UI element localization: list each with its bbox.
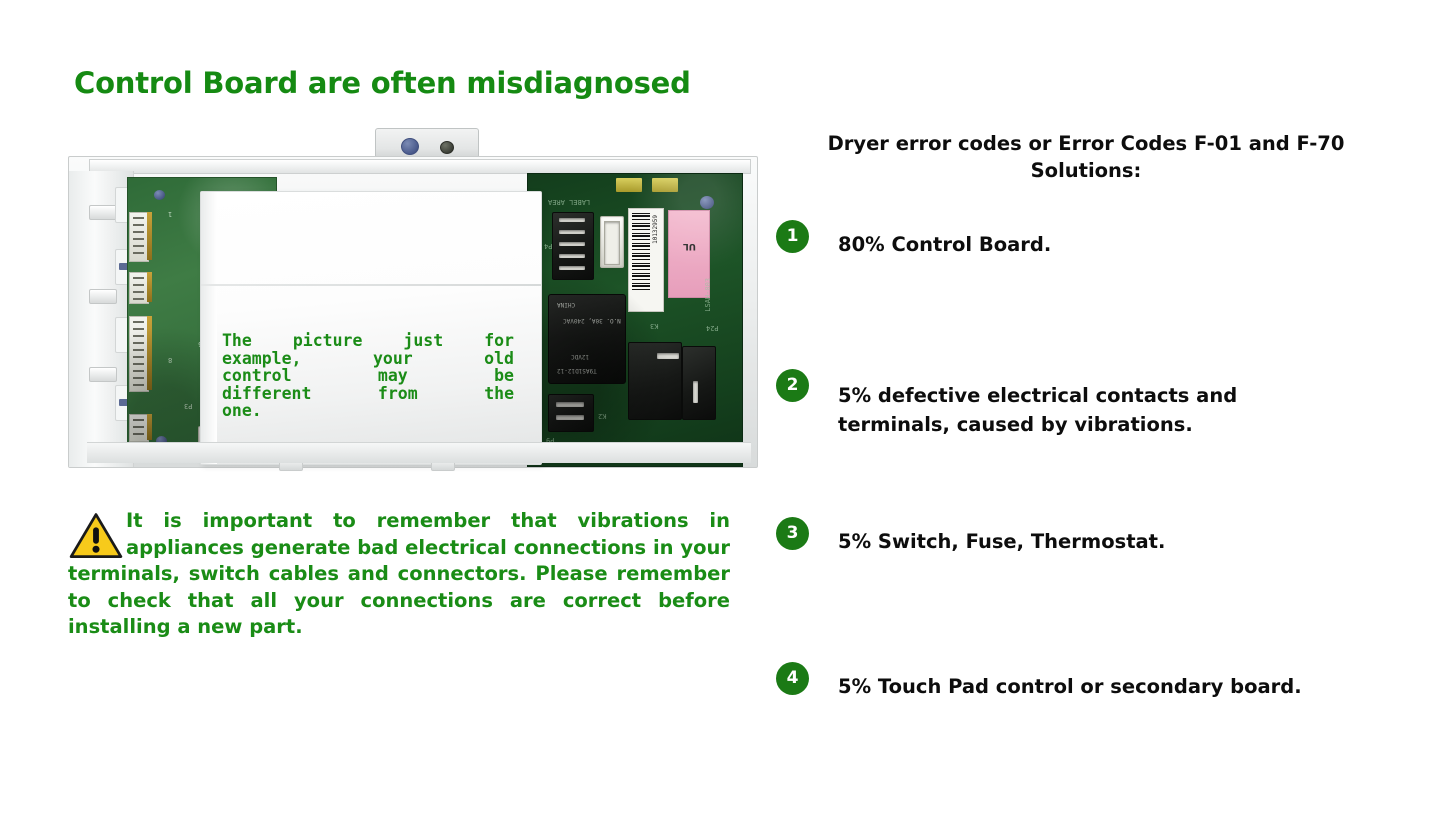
solution-badge-2: 2	[776, 369, 809, 402]
solution-item-3[interactable]: 3 5% Switch, Fuse, Thermostat.	[776, 519, 1396, 556]
black-connector-k2	[548, 394, 594, 432]
pin-header	[129, 316, 149, 392]
barcode-icon	[632, 213, 650, 291]
pcb-pad	[154, 190, 165, 200]
solution-text-3: 5% Switch, Fuse, Thermostat.	[838, 527, 1165, 556]
housing-clip	[89, 205, 117, 220]
warning-block: It is important to remember that vibrati…	[68, 508, 730, 641]
silk-k3: K3	[650, 322, 658, 330]
solution-text-2: 5% defective electrical contacts and ter…	[838, 381, 1308, 439]
ribbon-socket	[600, 216, 624, 268]
silk-k2: K2	[598, 412, 606, 420]
black-connector-p4	[552, 212, 594, 280]
pcb-yellow-pad	[652, 178, 678, 192]
solutions-panel: Dryer error codes or Error Codes F-01 an…	[776, 130, 1396, 701]
image-overlay-note: The picture just for example, your old c…	[222, 332, 514, 420]
chassis-body: 1 3 P14 P2 P5 8 Whirlpool Corp. P3 P13 L…	[68, 156, 758, 468]
pin-header	[129, 272, 149, 304]
barcode-label: 10132959	[628, 208, 664, 312]
housing-clip	[89, 289, 117, 304]
right-pcb: LABEL AREA P4 10132959	[527, 173, 743, 467]
chassis-rail-bottom	[87, 442, 751, 463]
overlay-line-1: The picture just for	[222, 332, 514, 350]
pcb-trace	[147, 316, 152, 390]
board-chassis: 1 3 P14 P2 P5 8 Whirlpool Corp. P3 P13 L…	[62, 150, 762, 476]
solution-badge-3: 3	[776, 517, 809, 550]
pcb-trace	[147, 414, 152, 440]
solution-item-2[interactable]: 2 5% defective electrical contacts and t…	[776, 371, 1396, 439]
chassis-rail-top	[89, 159, 751, 174]
solutions-heading: Dryer error codes or Error Codes F-01 an…	[806, 130, 1366, 184]
warning-text: It is important to remember that vibrati…	[68, 508, 730, 641]
overlay-line-4: different from the	[222, 385, 514, 403]
warning-triangle-icon	[68, 512, 124, 560]
barcode-number: 10132959	[652, 215, 659, 244]
relay-component: CHINA N.O. 30A, 240VAC 12VDC T9AS1D12-12	[548, 294, 626, 384]
silk-pin-8: 8	[168, 356, 172, 364]
pcb-trace	[147, 212, 152, 260]
cover-fold	[201, 284, 541, 286]
relay-model: T9AS1D12-12	[557, 367, 597, 374]
left-housing	[69, 171, 134, 467]
solutions-list: 1 80% Control Board. 2 5% defective elec…	[776, 222, 1396, 701]
ul-mark-icon: UL	[683, 241, 696, 251]
board-cover	[200, 191, 542, 465]
silk-label-area: LABEL AREA	[548, 198, 590, 206]
black-connector-main	[628, 342, 682, 420]
silk-p4: P4	[544, 242, 552, 250]
black-connector-side	[682, 346, 716, 420]
relay-origin: CHINA	[557, 301, 575, 308]
pcb-yellow-pad	[616, 178, 642, 192]
solution-item-4[interactable]: 4 5% Touch Pad control or secondary boar…	[776, 664, 1396, 701]
relay-coil: 12VDC	[571, 353, 589, 360]
housing-clip	[89, 367, 117, 382]
solution-text-1: 80% Control Board.	[838, 230, 1051, 259]
cover-bevel	[201, 192, 217, 464]
silk-p24: P24	[706, 324, 719, 332]
silk-pin-1: 1	[168, 210, 172, 218]
overlay-line-2: example, your old	[222, 350, 514, 368]
pcb-pad	[700, 196, 714, 209]
solution-badge-1: 1	[776, 220, 809, 253]
page-title: Control Board are often misdiagnosed	[74, 66, 691, 100]
pin-header	[129, 414, 149, 442]
overlay-line-5: one.	[222, 402, 514, 420]
pcb-trace	[147, 272, 152, 302]
pin-header	[129, 212, 149, 262]
solution-text-4: 5% Touch Pad control or secondary board.	[838, 672, 1302, 701]
control-board-photo: 1 3 P14 P2 P5 8 Whirlpool Corp. P3 P13 L…	[62, 128, 762, 476]
ul-pink-label: UL	[668, 210, 710, 298]
relay-rating: N.O. 30A, 240VAC	[563, 317, 621, 324]
silk-p3: P3	[184, 402, 192, 410]
silk-pcb-part: LSAH-003	[704, 278, 712, 312]
overlay-line-3: control may be	[222, 367, 514, 385]
solution-item-1[interactable]: 1 80% Control Board.	[776, 222, 1396, 259]
solution-badge-4: 4	[776, 662, 809, 695]
